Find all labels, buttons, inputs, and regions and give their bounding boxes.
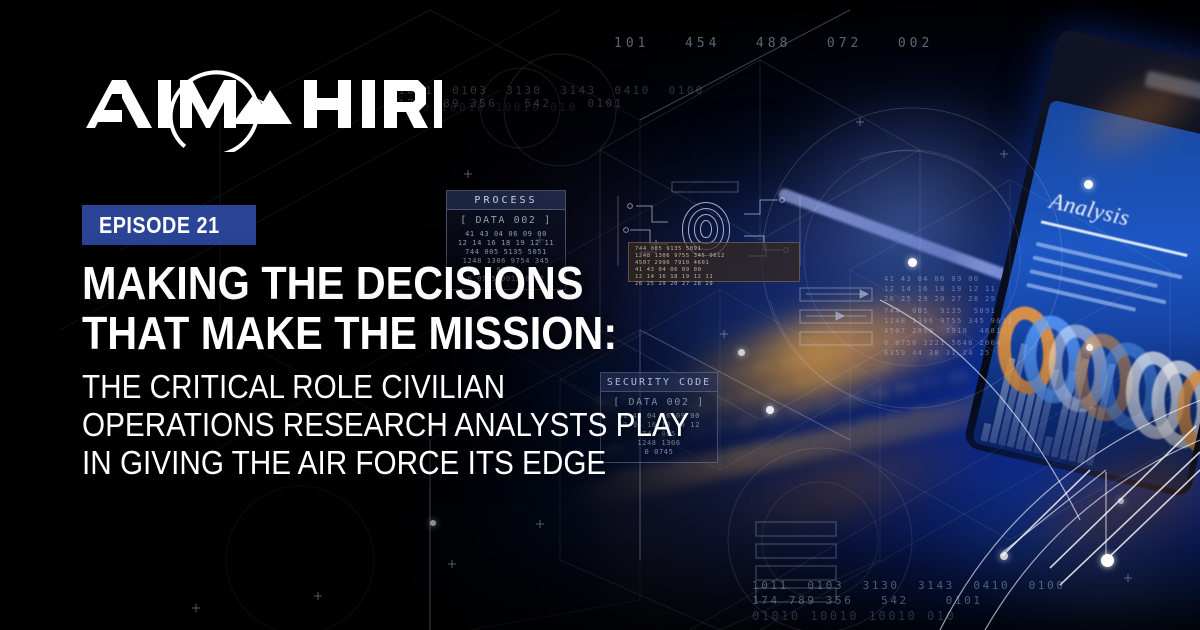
subhead-line-3: IN GIVING THE AIR FORCE ITS EDGE <box>82 444 694 482</box>
subhead-line-2: OPERATIONS RESEARCH ANALYSTS PLAY <box>82 406 694 444</box>
hud-text-row: 744 005 5135 5051 <box>453 248 559 257</box>
hud-text-row: 12 14 16 18 19 12 11 <box>884 284 996 294</box>
logo-wordmark <box>86 80 442 128</box>
hud-numbers-upper: 1011 0103 3130 3143 0410 0100174 789 356… <box>398 84 705 110</box>
hud-node-dot <box>766 406 774 414</box>
hud-text-row: 1011 0103 3130 3143 0410 0100 <box>398 84 705 97</box>
hud-text-row: 4507 2990 7910 4601 <box>884 326 1013 336</box>
episode-card: Analysis <box>0 0 1200 630</box>
hud-numbers-top: 101 454 488 072 002 <box>614 36 933 51</box>
subhead-line-1: THE CRITICAL ROLE CIVILIAN <box>82 368 694 406</box>
hud-node-dot <box>1000 552 1008 560</box>
hud-text-row: 41 43 04 06 09 00 <box>453 230 559 239</box>
hud-panel-process-title: PROCESS <box>447 191 565 210</box>
hud-node-dot <box>1118 498 1124 504</box>
hud-node-dot <box>1101 554 1114 567</box>
hud-text-row: 6359 44 38 31 24 25 <box>884 348 1002 358</box>
hud-text-row: 174 789 356 542 0101 <box>752 593 1066 608</box>
hud-text-row: 12 14 16 18 19 12 11 <box>453 239 559 248</box>
mountain-peak-icon <box>232 90 292 124</box>
hud-node-dot <box>908 258 917 267</box>
hud-binary-bottom: 01010 10010 10010 010 <box>752 608 956 624</box>
hud-text-row: 1248 1306 9755 345 9612 <box>884 316 1013 326</box>
hud-numbers-mid: 41 43 04 06 09 0012 14 16 18 19 12 1126 … <box>884 274 996 304</box>
headline-line-2: THAT MAKE THE MISSION: <box>82 308 676 358</box>
hud-node-dot <box>1084 180 1093 189</box>
hud-node-dot <box>430 520 436 526</box>
headline-line-1: MAKING THE DECISIONS <box>82 258 676 308</box>
page-title: MAKING THE DECISIONS THAT MAKE THE MISSI… <box>82 258 742 358</box>
aim-hire-logo[interactable] <box>82 66 442 152</box>
hud-text-row: 174 789 356 542 0101 <box>398 97 705 110</box>
hud-text-row: 744 005 9135 5091 <box>884 306 1013 316</box>
hud-text-row: 41 43 04 06 09 00 <box>884 274 996 284</box>
hud-text-row: 1011 0103 3130 3143 0410 0100 <box>752 578 1066 593</box>
hud-numbers-bottom: 1011 0103 3130 3143 0410 0100174 789 356… <box>752 578 1066 608</box>
hud-numbers-mid2: 744 005 9135 50911248 1306 9755 345 9612… <box>884 306 1013 336</box>
hud-node-dot <box>1086 344 1093 351</box>
hud-panel-process-subtitle: [ DATA 002 ] <box>447 210 565 229</box>
hud-text-row: 6 0756 3221 5646 2004 <box>884 338 1002 348</box>
episode-badge: EPISODE 21 <box>82 205 256 245</box>
page-subtitle: THE CRITICAL ROLE CIVILIAN OPERATIONS RE… <box>82 368 762 482</box>
hud-text-row: 744 005 9135 5091 <box>635 246 793 253</box>
episode-badge-label: EPISODE 21 <box>99 214 220 237</box>
hud-numbers-mid3: 6 0756 3221 5646 20046359 44 38 31 24 25 <box>884 338 1002 358</box>
hud-text-row: 26 25 29 20 27 28 29 <box>884 294 996 304</box>
